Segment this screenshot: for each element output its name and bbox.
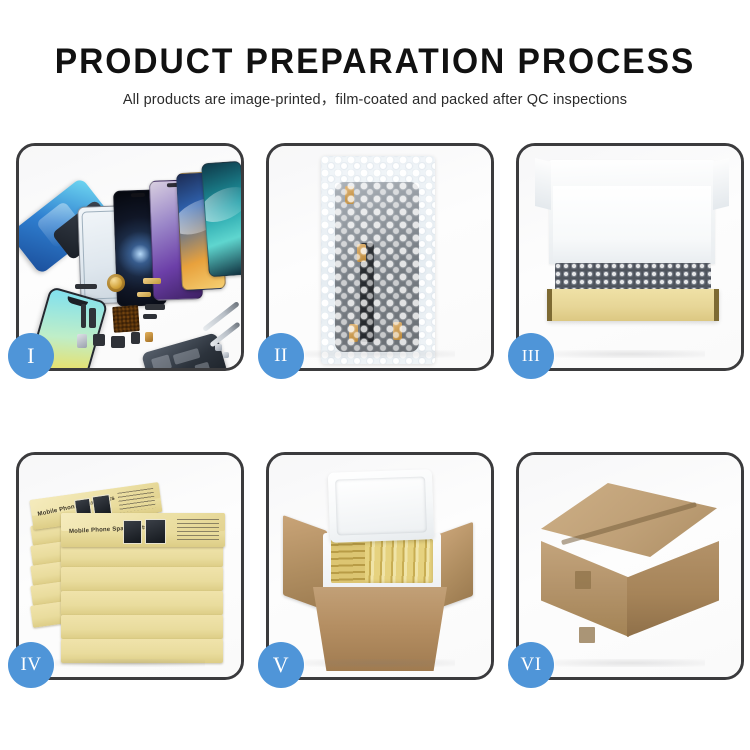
box-edge-left — [547, 289, 552, 321]
foam-cooler-lid — [328, 469, 434, 543]
step-card-4[interactable]: Mobile Phone Spare Parts Mobile Phone Sp… — [16, 452, 244, 680]
gold-flex-connector — [143, 278, 161, 284]
screw-part — [223, 352, 229, 358]
box-label-spec-lines — [177, 519, 219, 543]
phone-notch — [131, 193, 146, 197]
carton-tape-patch — [575, 571, 591, 589]
kraft-box-stack: Mobile Phone Spare Parts Mobile Phone Sp… — [29, 483, 229, 661]
step-badge-2: II — [258, 333, 304, 379]
carton-tape-patch — [579, 627, 595, 643]
step-badge-1: I — [8, 333, 54, 379]
kraft-box-front-panel — [547, 289, 719, 321]
internal-module — [151, 354, 172, 368]
white-foam-sheet — [553, 186, 711, 262]
small-component — [93, 334, 105, 346]
grey-bubble-wrap-layer — [555, 263, 711, 291]
step-card-6[interactable]: VI — [516, 452, 744, 680]
bubble-texture-overlay — [321, 156, 435, 364]
lid-flap-left — [535, 158, 551, 210]
step-2-image — [269, 146, 491, 368]
small-component — [131, 332, 140, 344]
step-card-2[interactable]: II — [266, 143, 494, 371]
gold-flex-connector — [137, 292, 151, 297]
step-4-image: Mobile Phone Spare Parts Mobile Phone Sp… — [19, 455, 241, 677]
sim-tray-part — [77, 334, 87, 348]
small-component — [75, 284, 97, 289]
step-5-image — [269, 455, 491, 677]
step-badge-4: IV — [8, 642, 54, 688]
flex-cable — [89, 308, 96, 328]
step-card-5[interactable]: V — [266, 452, 494, 680]
step-1-image — [19, 146, 241, 368]
camera-module — [194, 362, 211, 368]
packed-kraft-boxes-edge — [331, 539, 365, 583]
step-card-3[interactable]: III — [516, 143, 744, 371]
lid-flap-right — [713, 158, 729, 210]
vibration-motor-part — [145, 332, 153, 342]
box-label-spec-lines — [117, 488, 155, 513]
teal-display-panel — [201, 161, 241, 278]
copper-coil-part — [107, 274, 125, 292]
object-shadow — [555, 659, 706, 667]
keypad-contact-part — [112, 305, 140, 333]
object-shadow — [55, 659, 206, 667]
object-shadow — [305, 659, 456, 667]
box-label-phone-thumb — [123, 520, 142, 544]
box-label-phone-thumb — [145, 519, 166, 544]
flex-cable — [81, 304, 86, 328]
kraft-box-top-right: Mobile Phone Spare Parts — [61, 513, 225, 547]
process-steps-grid: I II — [0, 0, 750, 750]
box-edge-right — [714, 289, 719, 321]
kraft-box — [61, 615, 223, 639]
screw-part — [215, 344, 222, 351]
flex-cable — [145, 304, 165, 310]
object-shadow — [555, 350, 706, 358]
step-badge-6: VI — [508, 642, 554, 688]
step-card-1[interactable]: I — [16, 143, 244, 371]
step-badge-5: V — [258, 642, 304, 688]
internal-module — [173, 348, 201, 365]
object-shadow — [305, 350, 456, 358]
step-3-image — [519, 146, 741, 368]
carton-front-face — [541, 541, 629, 637]
step-6-image — [519, 455, 741, 677]
wallpaper-swirl — [201, 180, 241, 229]
kraft-box — [61, 545, 223, 567]
speaker-part — [111, 336, 125, 348]
kraft-box — [61, 567, 223, 591]
step-badge-3: III — [508, 333, 554, 379]
bubble-wrap-bag — [321, 156, 435, 364]
kraft-box — [61, 591, 223, 615]
flex-cable — [143, 314, 157, 319]
carton-side-face — [627, 541, 719, 637]
